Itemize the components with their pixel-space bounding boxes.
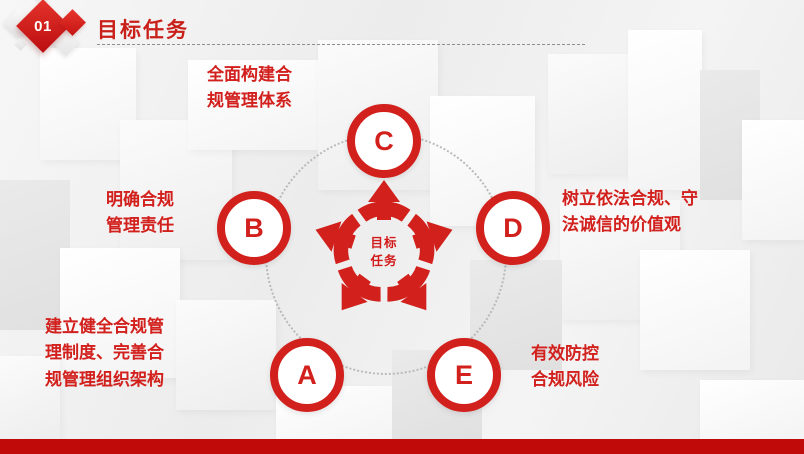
node-caption-b: 明确合规 管理责任 [106, 187, 174, 240]
bg-block [640, 250, 750, 370]
node-circle-b[interactable]: B [217, 191, 291, 265]
arrow-wheel-icon [308, 176, 460, 328]
node-caption-a: 建立健全合规管 理制度、完善合 规管理组织架构 [45, 314, 164, 393]
header-divider [97, 44, 585, 45]
node-caption-d: 树立依法合规、守 法诚信的价值观 [562, 186, 698, 239]
footer-bar [0, 439, 804, 454]
node-circle-e[interactable]: E [427, 338, 501, 412]
node-caption-c: 全面构建合 规管理体系 [207, 62, 292, 115]
section-number: 01 [24, 7, 62, 45]
node-circle-a[interactable]: A [270, 338, 344, 412]
slide-canvas: 01 目标任务 [0, 0, 804, 454]
bg-block [742, 120, 804, 240]
node-caption-e: 有效防控 合规风险 [531, 341, 599, 394]
page-title: 目标任务 [97, 14, 189, 44]
bg-block [548, 54, 634, 174]
bg-block [176, 300, 276, 410]
slide-header: 01 目标任务 [0, 0, 804, 56]
node-circle-c[interactable]: C [347, 104, 421, 178]
center-arrow-wheel [308, 176, 460, 328]
node-circle-d[interactable]: D [476, 191, 550, 265]
bg-block [700, 380, 804, 442]
